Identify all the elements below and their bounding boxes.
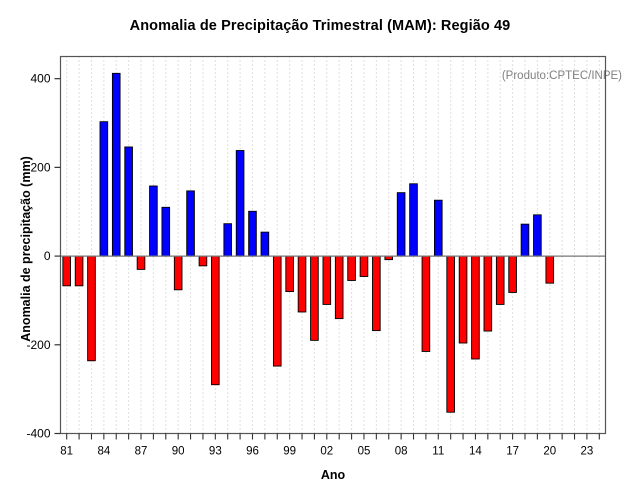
y-axis-tick-label: -400 xyxy=(26,427,50,441)
bar xyxy=(521,224,529,256)
bar xyxy=(509,256,517,292)
bar xyxy=(335,256,343,319)
bar xyxy=(88,256,96,361)
grid-lines xyxy=(67,57,600,434)
x-axis-tick-label: 20 xyxy=(543,446,556,458)
bar xyxy=(496,256,504,304)
bar xyxy=(410,184,418,256)
precipitation-anomaly-chart: Anomalia de Precipitação Trimestral (MAM… xyxy=(0,0,640,500)
bar xyxy=(75,256,83,286)
x-axis-tick-label: 14 xyxy=(469,446,482,458)
bar xyxy=(484,256,492,331)
bar xyxy=(63,256,71,286)
plot-area: -400-2000200400 818487909396990205081114… xyxy=(0,0,640,500)
bar xyxy=(348,256,356,280)
x-axis-tick-label: 02 xyxy=(320,446,333,458)
bar xyxy=(422,256,430,351)
bar xyxy=(162,207,170,256)
y-axis-tick-label: -200 xyxy=(26,338,50,352)
x-axis-tick-label: 05 xyxy=(358,446,371,458)
bar xyxy=(249,211,257,256)
x-axis-tick-label: 08 xyxy=(395,446,408,458)
x-axis-tick-label: 81 xyxy=(60,446,73,458)
y-axis-tick-label: 200 xyxy=(30,160,50,174)
x-axis-tick-label: 93 xyxy=(209,446,222,458)
bars-layer xyxy=(63,73,554,412)
x-axis: 818487909396990205081114172023 xyxy=(60,434,599,458)
x-axis-tick-label: 17 xyxy=(506,446,519,458)
bar xyxy=(472,256,480,359)
x-axis-tick-label: 23 xyxy=(581,446,594,458)
bar xyxy=(273,256,281,366)
bar xyxy=(137,256,145,269)
bar xyxy=(224,224,232,256)
bar xyxy=(311,256,319,340)
bar xyxy=(397,193,405,256)
bar xyxy=(459,256,467,343)
y-axis-tick-label: 400 xyxy=(30,72,50,86)
bar xyxy=(187,191,195,256)
bar xyxy=(447,256,455,412)
x-axis-tick-label: 11 xyxy=(432,446,444,458)
bar xyxy=(112,73,120,256)
bar xyxy=(150,186,158,256)
bar xyxy=(174,256,182,290)
x-axis-tick-label: 84 xyxy=(97,446,110,458)
bar xyxy=(100,122,108,256)
bar xyxy=(360,256,368,276)
bar xyxy=(373,256,381,331)
bar xyxy=(298,256,306,312)
x-axis-tick-label: 96 xyxy=(246,446,259,458)
bar xyxy=(534,215,542,256)
bar xyxy=(199,256,207,266)
y-axis: -400-2000200400 xyxy=(26,72,60,441)
x-axis-tick-label: 99 xyxy=(283,446,296,458)
bar xyxy=(323,256,331,304)
bar xyxy=(211,256,219,385)
bar xyxy=(236,151,244,257)
x-axis-tick-label: 87 xyxy=(135,446,148,458)
bar xyxy=(546,256,554,283)
y-axis-tick-label: 0 xyxy=(44,249,51,263)
bar xyxy=(261,232,269,256)
x-axis-tick-label: 90 xyxy=(172,446,185,458)
bar xyxy=(434,200,442,256)
bar xyxy=(125,147,133,256)
bar xyxy=(286,256,294,291)
